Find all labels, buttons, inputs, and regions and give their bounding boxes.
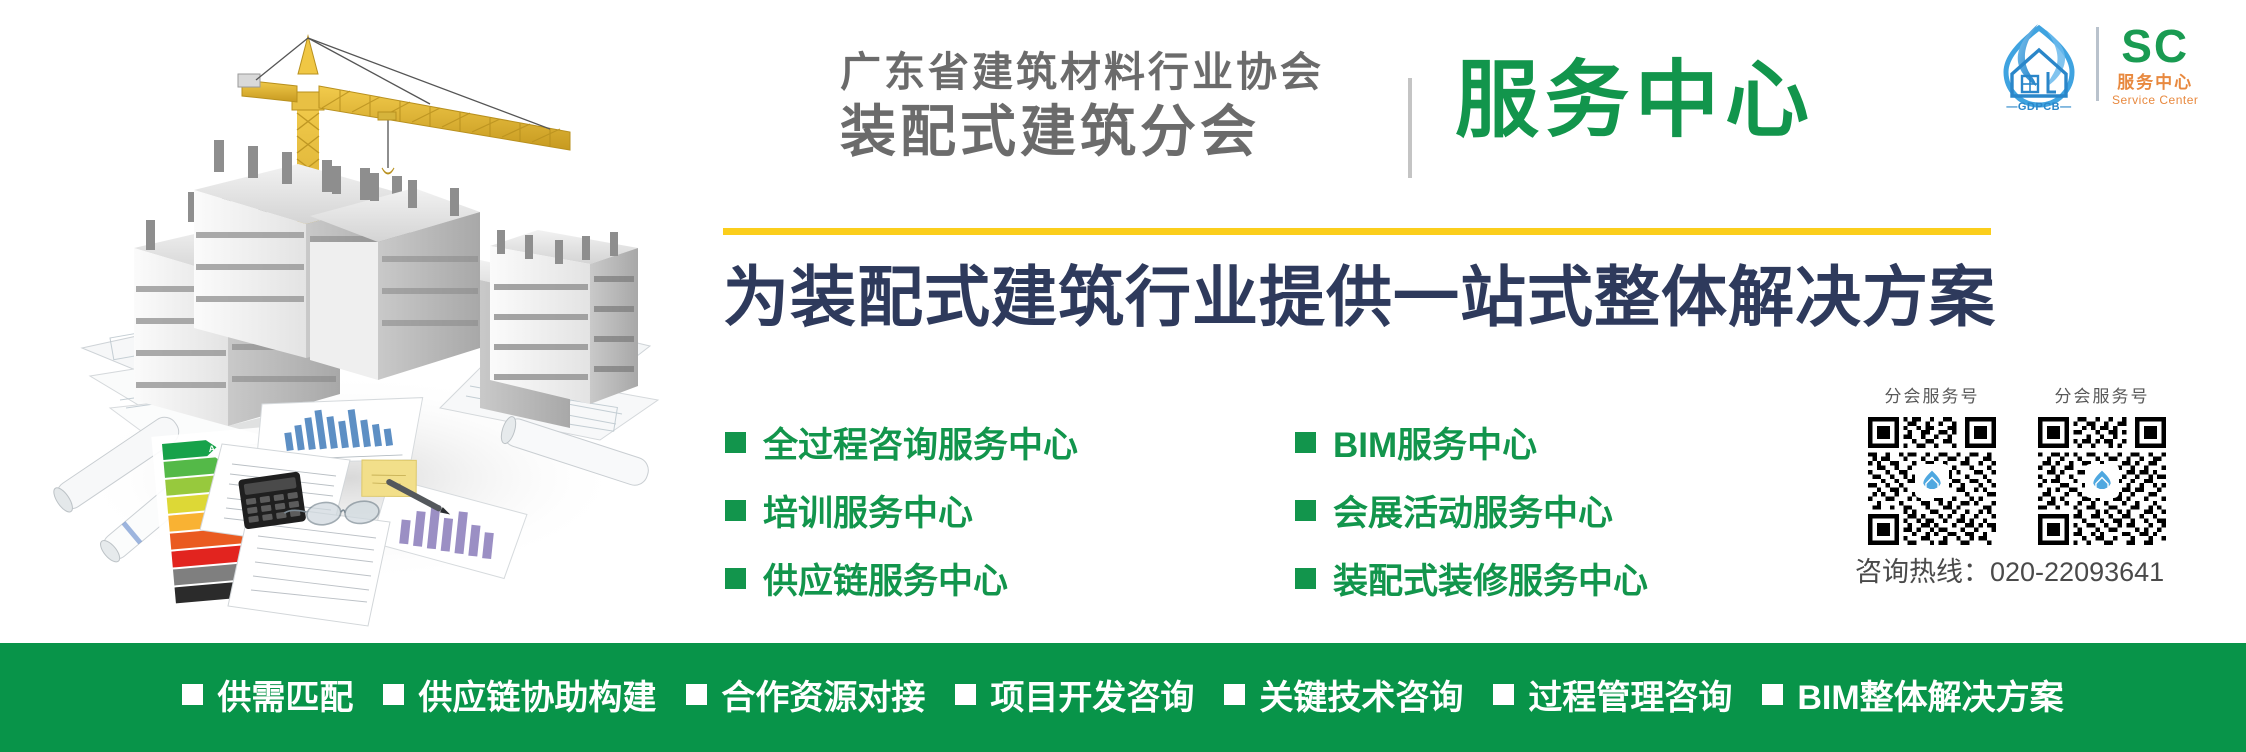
bottom-bar-item[interactable]: 合作资源对接 — [686, 670, 925, 719]
square-bullet-icon — [1762, 684, 1783, 705]
service-item-label: 装配式装修服务中心 — [1333, 553, 1648, 604]
brand-logo: —GDPCB— SC 服务中心 Service Center — [1986, 14, 2226, 114]
qr-code-image-1[interactable] — [1868, 417, 1996, 545]
square-bullet-icon — [955, 684, 976, 705]
service-center-title: 服务中心 — [1455, 58, 1815, 142]
bottom-bar-item[interactable]: 项目开发咨询 — [955, 670, 1194, 719]
service-item-label: 会展活动服务中心 — [1333, 485, 1613, 536]
logo-divider — [2096, 27, 2099, 101]
association-name-line1: 广东省建筑材料行业协会 — [840, 52, 1380, 93]
association-name-block: 广东省建筑材料行业协会 装配式建筑分会 — [840, 52, 1380, 164]
qr-code-group: 分会服务号 — [1868, 382, 2166, 545]
gold-horizontal-rule — [723, 228, 1991, 235]
bottom-bar-item[interactable]: BIM整体解决方案 — [1762, 670, 2063, 719]
bottom-bar-item[interactable]: 过程管理咨询 — [1493, 670, 1732, 719]
qr-code-image-2[interactable] — [2038, 417, 2166, 545]
qr-code-label: 分会服务号 — [2038, 382, 2166, 407]
square-bullet-icon — [383, 684, 404, 705]
qr-code-label: 分会服务号 — [1868, 382, 1996, 407]
bottom-service-bar: 供需匹配 供应链协助构建 合作资源对接 项目开发咨询 关键技术咨询 过程管理咨询 — [0, 643, 2246, 752]
service-item-label: BIM服务中心 — [1333, 417, 1537, 468]
square-bullet-icon — [1295, 500, 1316, 521]
bottom-bar-item-label: 项目开发咨询 — [990, 670, 1194, 719]
service-item[interactable]: BIM服务中心 — [1295, 408, 1648, 476]
service-item[interactable]: 供应链服务中心 — [725, 544, 1078, 612]
bottom-bar-item-label: 关键技术咨询 — [1259, 670, 1463, 719]
square-bullet-icon — [725, 432, 746, 453]
bottom-service-bar-items: 供需匹配 供应链协助构建 合作资源对接 项目开发咨询 关键技术咨询 过程管理咨询 — [182, 670, 2063, 725]
svg-text:—GDPCB—: —GDPCB— — [2006, 101, 2071, 113]
service-list-right: BIM服务中心 会展活动服务中心 装配式装修服务中心 — [1295, 408, 1648, 612]
promotional-banner: ABC DEF GHI — [0, 0, 2246, 752]
hotline-text: 咨询热线：020-22093641 — [1855, 550, 2164, 589]
square-bullet-icon — [182, 684, 203, 705]
square-bullet-icon — [1224, 684, 1245, 705]
qr-center-logo-icon — [1915, 464, 1949, 498]
calculator — [238, 471, 306, 529]
service-item[interactable]: 培训服务中心 — [725, 476, 1078, 544]
construction-render-image: ABC DEF GHI — [10, 8, 670, 638]
bottom-bar-item-label: 供应链协助构建 — [418, 670, 656, 719]
bottom-bar-item[interactable]: 供应链协助构建 — [383, 670, 656, 719]
square-bullet-icon — [725, 500, 746, 521]
bottom-bar-item[interactable]: 关键技术咨询 — [1224, 670, 1463, 719]
qr-code-cell: 分会服务号 — [2038, 382, 2166, 545]
square-bullet-icon — [1295, 568, 1316, 589]
square-bullet-icon — [725, 568, 746, 589]
service-list-left: 全过程咨询服务中心 培训服务中心 供应链服务中心 — [725, 408, 1078, 612]
square-bullet-icon — [1493, 684, 1514, 705]
qr-center-logo-icon — [2085, 464, 2119, 498]
bottom-bar-item-label: BIM整体解决方案 — [1797, 670, 2063, 719]
service-item[interactable]: 全过程咨询服务中心 — [725, 408, 1078, 476]
sc-service-center-logo: SC 服务中心 Service Center — [2112, 23, 2198, 106]
qr-code-cell: 分会服务号 — [1868, 382, 1996, 545]
header-vertical-divider — [1408, 78, 1412, 178]
bottom-bar-item-label: 过程管理咨询 — [1528, 670, 1732, 719]
sc-english-label: Service Center — [2112, 94, 2198, 106]
service-item-label: 培训服务中心 — [763, 485, 973, 536]
association-name-line2: 装配式建筑分会 — [840, 101, 1380, 164]
sc-chinese-label: 服务中心 — [2117, 74, 2193, 91]
bottom-bar-item[interactable]: 供需匹配 — [182, 670, 353, 719]
bottom-bar-item-label: 合作资源对接 — [721, 670, 925, 719]
service-item-label: 全过程咨询服务中心 — [763, 417, 1078, 468]
main-tagline: 为装配式建筑行业提供一站式整体解决方案 — [723, 258, 1996, 337]
service-item-label: 供应链服务中心 — [763, 553, 1008, 604]
bottom-bar-item-label: 供需匹配 — [217, 670, 353, 719]
service-item[interactable]: 装配式装修服务中心 — [1295, 544, 1648, 612]
sc-abbrev: SC — [2121, 23, 2189, 69]
service-item[interactable]: 会展活动服务中心 — [1295, 476, 1648, 544]
gdpcb-house-flame-icon: —GDPCB— — [1986, 14, 2092, 114]
square-bullet-icon — [1295, 432, 1316, 453]
square-bullet-icon — [686, 684, 707, 705]
